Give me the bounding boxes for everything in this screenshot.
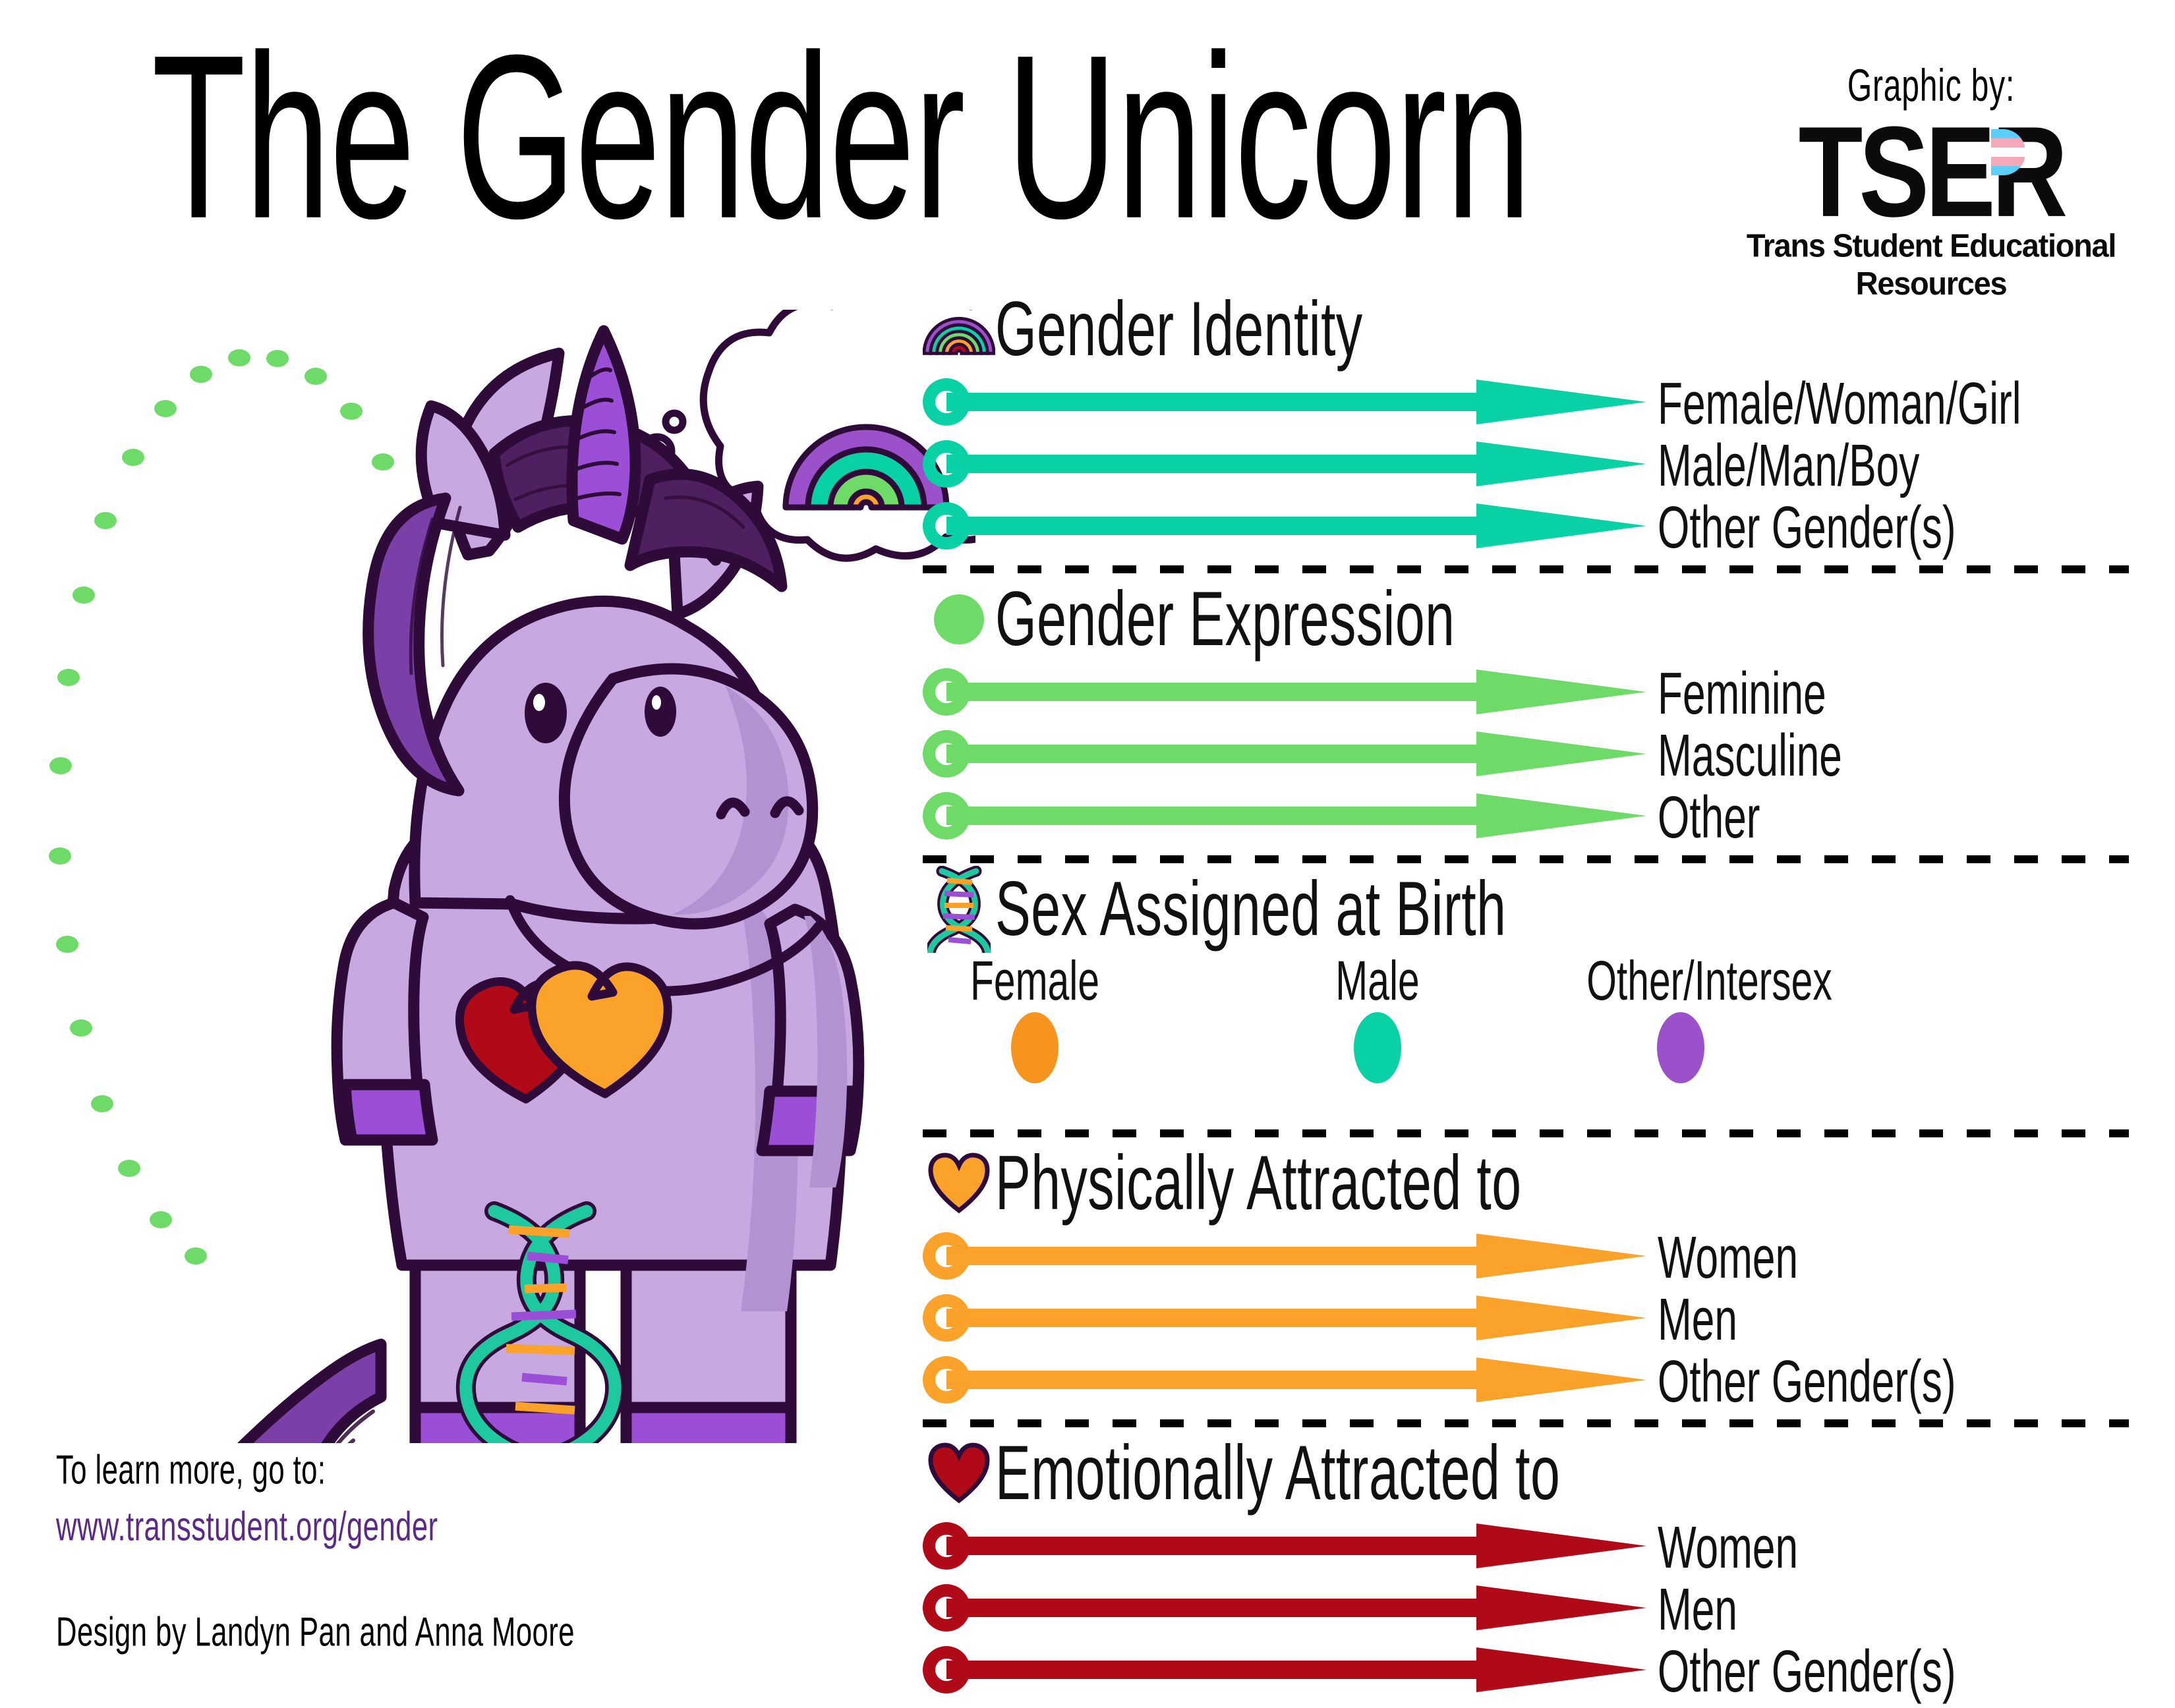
- scale-row: Male/Man/Boy: [923, 440, 2155, 488]
- scale-arrow[interactable]: [923, 440, 1648, 488]
- section-title: Gender Expression: [995, 575, 1455, 664]
- red-heart-icon: [928, 1442, 990, 1504]
- green-dot: [122, 449, 144, 466]
- section-divider: [923, 565, 2129, 573]
- scale-row-label: Other Gender(s): [1658, 1637, 1956, 1705]
- green-dot: [49, 847, 71, 865]
- section-icon-wrap: [923, 594, 995, 645]
- scale-row: Women: [923, 1232, 2155, 1280]
- scale-row-label: Women: [1658, 1223, 1798, 1292]
- section-divider: [923, 855, 2129, 863]
- scale-row: Other Gender(s): [923, 1646, 2155, 1694]
- scale-row-label: Female/Woman/Girl: [1658, 369, 2021, 438]
- design-credit: Design by Landyn Pan and Anna Moore: [56, 1608, 575, 1656]
- sex-option-dot: [1354, 1012, 1401, 1083]
- scale-arrow[interactable]: [923, 792, 1648, 840]
- scale-row-label: Women: [1658, 1513, 1798, 1581]
- scale-row: Other Gender(s): [923, 502, 2155, 550]
- scale-arrow[interactable]: [923, 502, 1648, 550]
- section-sex-assigned-at-birth: Sex Assigned at BirthFemaleMaleOther/Int…: [923, 870, 2155, 1114]
- arrow-rows: FeminineMasculineOther: [923, 668, 2155, 840]
- green-circle-icon: [933, 594, 985, 645]
- scale-arrow[interactable]: [923, 1356, 1648, 1404]
- section-icon-wrap: [923, 866, 995, 953]
- website-link[interactable]: www.transstudent.org/gender: [56, 1503, 575, 1551]
- sex-option-dot: [1011, 1012, 1058, 1083]
- scale-row: Other Gender(s): [923, 1356, 2155, 1404]
- section-icon-wrap: [923, 304, 995, 355]
- section-header: Physically Attracted to: [923, 1144, 2155, 1223]
- categories-panel: Gender IdentityFemale/Woman/GirlMale/Man…: [923, 290, 2155, 1708]
- scale-row: Women: [923, 1522, 2155, 1570]
- dna-icon: [927, 866, 991, 953]
- scale-arrow[interactable]: [923, 1294, 1648, 1342]
- sex-option-label: Male: [1283, 949, 1472, 1012]
- green-dot: [94, 512, 117, 529]
- scale-row: Men: [923, 1294, 2155, 1342]
- section-header: Sex Assigned at Birth: [923, 870, 2155, 949]
- green-dot: [49, 757, 72, 774]
- section-header: Gender Identity: [923, 290, 2155, 369]
- arrow-rows: Female/Woman/GirlMale/Man/BoyOther Gende…: [923, 378, 2155, 550]
- section-header: Emotionally Attracted to: [923, 1434, 2155, 1513]
- unicorn-illustration: [217, 310, 975, 1446]
- section-icon-wrap: [923, 1153, 995, 1214]
- green-dot: [190, 366, 212, 383]
- scale-arrow[interactable]: [923, 730, 1648, 778]
- tser-acronym-wrap: TSER: [1799, 111, 2064, 211]
- green-dot: [118, 1160, 140, 1177]
- scale-row-label: Male/Man/Boy: [1658, 431, 1919, 499]
- section-physically-attracted-to: Physically Attracted toWomenMenOther Gen…: [923, 1144, 2155, 1404]
- scale-row-label: Other Gender(s): [1658, 493, 1956, 561]
- section-icon-wrap: [923, 1442, 995, 1504]
- sex-option-dot: [1657, 1012, 1704, 1083]
- green-dot: [150, 1211, 172, 1228]
- green-dot: [91, 1095, 113, 1112]
- sex-option-label: Other/Intersex: [1586, 949, 1775, 1012]
- arrow-rows: WomenMenOther Gender(s): [923, 1232, 2155, 1404]
- scale-arrow[interactable]: [923, 1522, 1648, 1570]
- scale-row: Other: [923, 792, 2155, 840]
- green-dot: [72, 586, 95, 604]
- section-header: Gender Expression: [923, 580, 2155, 659]
- green-dot: [154, 400, 177, 417]
- scale-row: Feminine: [923, 668, 2155, 716]
- sex-option-female[interactable]: Female: [923, 949, 1147, 1083]
- section-title: Emotionally Attracted to: [995, 1429, 1560, 1518]
- green-dot: [185, 1247, 207, 1265]
- scale-row: Masculine: [923, 730, 2155, 778]
- green-dot: [56, 936, 78, 953]
- scale-row-label: Other Gender(s): [1658, 1347, 1956, 1415]
- green-dot: [57, 669, 80, 686]
- section-gender-identity: Gender IdentityFemale/Woman/GirlMale/Man…: [923, 290, 2155, 550]
- section-emotionally-attracted-to: Emotionally Attracted toWomenMenOther Ge…: [923, 1434, 2155, 1694]
- scale-arrow[interactable]: [923, 668, 1648, 716]
- sex-option-other-intersex[interactable]: Other/Intersex: [1569, 949, 1793, 1083]
- section-title: Gender Identity: [995, 285, 1363, 374]
- scale-arrow[interactable]: [923, 1646, 1648, 1694]
- rainbow-icon: [923, 304, 995, 355]
- section-gender-expression: Gender ExpressionFeminineMasculineOther: [923, 580, 2155, 840]
- footer: To learn more, go to: www.transstudent.o…: [56, 1446, 674, 1648]
- section-title: Sex Assigned at Birth: [995, 865, 1506, 954]
- arrow-rows: WomenMenOther Gender(s): [923, 1522, 2155, 1694]
- scale-arrow[interactable]: [923, 378, 1648, 426]
- sex-option-label: Female: [941, 949, 1129, 1012]
- scale-row-label: Masculine: [1658, 721, 1842, 789]
- scale-row-label: Men: [1658, 1285, 1737, 1353]
- sex-option-male[interactable]: Male: [1265, 949, 1490, 1083]
- section-divider: [923, 1419, 2129, 1427]
- page-title: The Gender Unicorn: [152, 20, 1530, 253]
- section-title: Physically Attracted to: [995, 1139, 1521, 1228]
- scale-row: Men: [923, 1584, 2155, 1632]
- scale-row-label: Feminine: [1658, 659, 1826, 727]
- tser-acronym: TSER: [1799, 111, 2064, 233]
- section-divider: [923, 1129, 2129, 1137]
- scale-row-label: Men: [1658, 1575, 1737, 1643]
- green-dot: [70, 1019, 92, 1037]
- sex-dots-row: FemaleMaleOther/Intersex: [923, 949, 2155, 1114]
- scale-arrow[interactable]: [923, 1232, 1648, 1280]
- scale-row-label: Other: [1658, 783, 1760, 851]
- tser-logo: Graphic by: TSER Trans Student Education…: [1720, 63, 2142, 300]
- orange-heart-icon: [928, 1153, 990, 1214]
- learn-more-label: To learn more, go to:: [56, 1446, 575, 1494]
- scale-row: Female/Woman/Girl: [923, 378, 2155, 426]
- scale-arrow[interactable]: [923, 1584, 1648, 1632]
